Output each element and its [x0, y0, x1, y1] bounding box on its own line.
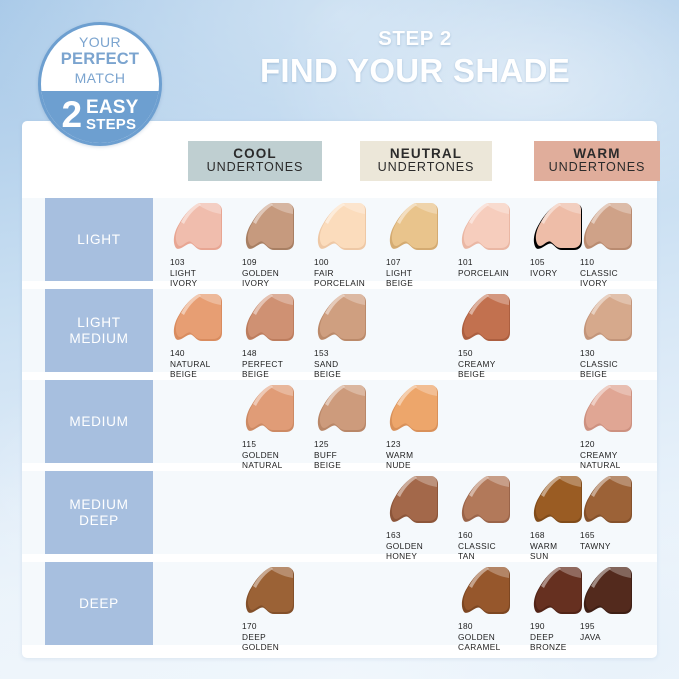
badge-word-easy: EASY: [86, 98, 139, 117]
foundation-smear-icon: [580, 566, 648, 620]
foundation-smear-icon: [170, 202, 238, 256]
shade-row-medium-deep: MEDIUM DEEP163 GOLDEN HONEY160 CLASSIC T…: [22, 471, 657, 554]
shade-name-label: 100 FAIR PORCELAIN: [314, 257, 388, 289]
shade-name-label: 140 NATURAL BEIGE: [170, 348, 244, 380]
shade-name-label: 153 SAND BEIGE: [314, 348, 388, 380]
shade-name-label: 101 PORCELAIN: [458, 257, 532, 278]
foundation-smear-icon: [386, 202, 454, 256]
shade-name-label: 125 BUFF BEIGE: [314, 439, 388, 471]
badge-line-1: YOUR: [79, 34, 121, 50]
shade-swatch-165[interactable]: 165 TAWNY: [580, 475, 654, 551]
foundation-smear-icon: [458, 566, 526, 620]
shade-swatch-100[interactable]: 100 FAIR PORCELAIN: [314, 202, 388, 289]
shade-name-label: 170 DEEP GOLDEN: [242, 621, 316, 653]
shade-name-label: 148 PERFECT BEIGE: [242, 348, 316, 380]
foundation-smear-icon: [580, 202, 648, 256]
badge-line-3: MATCH: [75, 70, 126, 86]
badge-step-number: 2: [61, 98, 82, 131]
undertone-header-warm: WARMUNDERTONES: [534, 141, 660, 181]
shade-swatch-150[interactable]: 150 CREAMY BEIGE: [458, 293, 532, 380]
shade-swatch-103[interactable]: 103 LIGHT IVORY: [170, 202, 244, 289]
shade-swatch-120[interactable]: 120 CREAMY NATURAL: [580, 384, 654, 471]
shade-name-label: 123 WARM NUDE: [386, 439, 460, 471]
shade-swatch-153[interactable]: 153 SAND BEIGE: [314, 293, 388, 380]
foundation-smear-icon: [314, 202, 382, 256]
depth-label-medium-deep: MEDIUM DEEP: [45, 471, 153, 554]
foundation-smear-icon: [242, 384, 310, 438]
foundation-smear-icon: [580, 384, 648, 438]
foundation-smear-icon: [242, 566, 310, 620]
foundation-smear-icon: [458, 293, 526, 347]
shade-name-label: 195 JAVA: [580, 621, 654, 642]
shade-name-label: 165 TAWNY: [580, 530, 654, 551]
depth-label-deep: DEEP: [45, 562, 153, 645]
undertone-header-row: COOLUNDERTONESNEUTRALUNDERTONESWARMUNDER…: [22, 141, 657, 181]
shade-swatch-115[interactable]: 115 GOLDEN NATURAL: [242, 384, 316, 471]
shade-row-light-medium: LIGHT MEDIUM140 NATURAL BEIGE148 PERFECT…: [22, 289, 657, 372]
badge-word-steps: STEPS: [86, 117, 139, 132]
shade-row-deep: DEEP170 DEEP GOLDEN180 GOLDEN CARAMEL190…: [22, 562, 657, 645]
shade-name-label: 150 CREAMY BEIGE: [458, 348, 532, 380]
shade-swatch-163[interactable]: 163 GOLDEN HONEY: [386, 475, 460, 562]
foundation-smear-icon: [386, 475, 454, 529]
title-block: STEP 2 FIND YOUR SHADE: [180, 28, 650, 90]
shade-swatch-140[interactable]: 140 NATURAL BEIGE: [170, 293, 244, 380]
shade-swatch-130[interactable]: 130 CLASSIC BEIGE: [580, 293, 654, 380]
shade-swatch-160[interactable]: 160 CLASSIC TAN: [458, 475, 532, 562]
shade-name-label: 103 LIGHT IVORY: [170, 257, 244, 289]
shade-row-medium: MEDIUM115 GOLDEN NATURAL125 BUFF BEIGE12…: [22, 380, 657, 463]
shade-name-label: 130 CLASSIC BEIGE: [580, 348, 654, 380]
perfect-match-badge: YOUR PERFECT MATCH 2 EASY STEPS: [38, 22, 162, 146]
shade-name-label: 180 GOLDEN CARAMEL: [458, 621, 532, 653]
shade-swatch-170[interactable]: 170 DEEP GOLDEN: [242, 566, 316, 653]
shade-swatch-110[interactable]: 110 CLASSIC IVORY: [580, 202, 654, 289]
shade-chart-card: COOLUNDERTONESNEUTRALUNDERTONESWARMUNDER…: [22, 121, 657, 658]
shade-name-label: 109 GOLDEN IVORY: [242, 257, 316, 289]
shade-swatch-125[interactable]: 125 BUFF BEIGE: [314, 384, 388, 471]
shade-name-label: 110 CLASSIC IVORY: [580, 257, 654, 289]
foundation-smear-icon: [386, 384, 454, 438]
undertone-header-title: WARM: [573, 147, 620, 161]
badge-line-2: PERFECT: [61, 50, 139, 69]
step-label: STEP 2: [180, 28, 650, 51]
shade-swatch-101[interactable]: 101 PORCELAIN: [458, 202, 532, 278]
foundation-smear-icon: [580, 475, 648, 529]
shade-swatch-148[interactable]: 148 PERFECT BEIGE: [242, 293, 316, 380]
badge-step-words: EASY STEPS: [86, 98, 139, 133]
shade-swatch-180[interactable]: 180 GOLDEN CARAMEL: [458, 566, 532, 653]
undertone-header-title: COOL: [233, 147, 276, 161]
foundation-smear-icon: [170, 293, 238, 347]
depth-label-light: LIGHT: [45, 198, 153, 281]
shade-name-label: 107 LIGHT BEIGE: [386, 257, 460, 289]
page-title: FIND YOUR SHADE: [180, 53, 650, 90]
undertone-header-sub: UNDERTONES: [207, 161, 304, 174]
shade-swatch-123[interactable]: 123 WARM NUDE: [386, 384, 460, 471]
foundation-smear-icon: [242, 293, 310, 347]
foundation-smear-icon: [242, 202, 310, 256]
shade-row-light: LIGHT103 LIGHT IVORY109 GOLDEN IVORY100 …: [22, 198, 657, 281]
foundation-smear-icon: [580, 293, 648, 347]
shade-swatch-107[interactable]: 107 LIGHT BEIGE: [386, 202, 460, 289]
foundation-smear-icon: [314, 293, 382, 347]
undertone-header-title: NEUTRAL: [390, 147, 462, 161]
depth-label-light-medium: LIGHT MEDIUM: [45, 289, 153, 372]
depth-label-medium: MEDIUM: [45, 380, 153, 463]
shade-name-label: 160 CLASSIC TAN: [458, 530, 532, 562]
undertone-header-sub: UNDERTONES: [549, 161, 646, 174]
undertone-header-sub: UNDERTONES: [378, 161, 475, 174]
foundation-smear-icon: [458, 475, 526, 529]
shade-swatch-195[interactable]: 195 JAVA: [580, 566, 654, 642]
shade-name-label: 120 CREAMY NATURAL: [580, 439, 654, 471]
shade-name-label: 115 GOLDEN NATURAL: [242, 439, 316, 471]
shade-swatch-109[interactable]: 109 GOLDEN IVORY: [242, 202, 316, 289]
foundation-smear-icon: [314, 384, 382, 438]
undertone-header-neutral: NEUTRALUNDERTONES: [360, 141, 492, 181]
undertone-header-cool: COOLUNDERTONES: [188, 141, 322, 181]
foundation-smear-icon: [458, 202, 526, 256]
shade-name-label: 163 GOLDEN HONEY: [386, 530, 460, 562]
